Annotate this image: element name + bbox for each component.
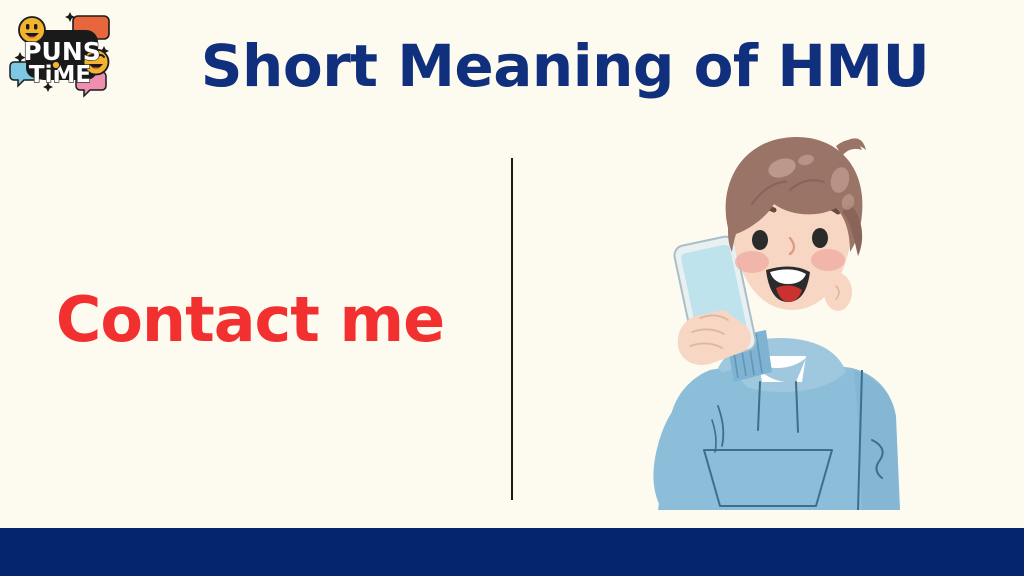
logo-line2: TiME — [29, 62, 91, 88]
cheek-right — [811, 249, 845, 271]
eye-left — [752, 230, 768, 250]
slide-canvas: PUNS TiME Short Meaning of HMU Contact m… — [0, 0, 1024, 576]
puns-time-logo[interactable]: PUNS TiME — [8, 6, 120, 98]
page-title: Short Meaning of HMU — [150, 30, 980, 102]
eye-right — [812, 228, 828, 248]
vertical-divider — [511, 158, 513, 500]
boy-on-phone-illustration — [600, 120, 930, 520]
footer-bar — [0, 528, 1024, 576]
cheek-left — [735, 251, 769, 273]
meaning-text: Contact me — [0, 282, 500, 358]
